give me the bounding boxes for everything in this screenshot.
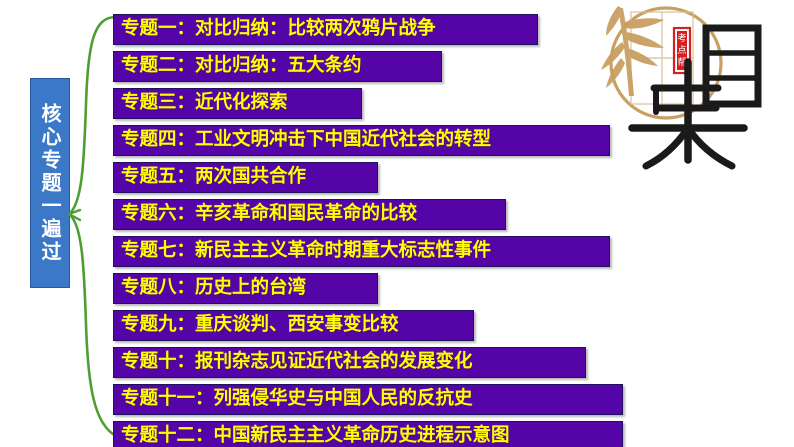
topic-bar-label: 专题六：辛亥革命和国民革命的比较 xyxy=(114,205,417,224)
contents-logo: 考 点 帮 xyxy=(596,0,794,190)
topic-bar[interactable]: 专题三：近代化探索 xyxy=(113,88,362,119)
topic-bar[interactable]: 专题九：重庆谈判、西安事变比较 xyxy=(113,310,474,341)
svg-text:考: 考 xyxy=(677,33,686,44)
core-topic-label-box[interactable]: 核心专题一遍过 xyxy=(30,78,70,288)
topic-bar[interactable]: 专题十：报刊杂志见证近代社会的发展变化 xyxy=(113,347,586,378)
slide-canvas: 核心专题一遍过 专题一：对比归纳：比较两次鸦片战争 专题二：对比归纳：五大条约 … xyxy=(0,0,794,447)
topic-bar[interactable]: 专题四：工业文明冲击下中国近代社会的转型 xyxy=(113,125,610,156)
topic-bar-label: 专题七：新民主主义革命时期重大标志性事件 xyxy=(114,242,491,261)
topic-bar-label: 专题二：对比归纳：五大条约 xyxy=(114,57,362,76)
topic-bar[interactable]: 专题八：历史上的台湾 xyxy=(113,273,378,304)
topic-bar[interactable]: 专题七：新民主主义革命时期重大标志性事件 xyxy=(113,236,610,267)
topic-bar[interactable]: 专题一：对比归纳：比较两次鸦片战争 xyxy=(113,14,538,45)
topic-bar-label: 专题九：重庆谈判、西安事变比较 xyxy=(114,316,399,335)
topic-bar[interactable]: 专题十二：中国新民主主义革命历史进程示意图 xyxy=(113,421,623,447)
topic-bar-label: 专题十：报刊杂志见证近代社会的发展变化 xyxy=(114,353,473,372)
topic-bar-label: 专题三：近代化探索 xyxy=(114,94,288,113)
topic-bar-label: 专题一：对比归纳：比较两次鸦片战争 xyxy=(114,20,436,39)
topic-bar[interactable]: 专题十一：列强侵华史与中国人民的反抗史 xyxy=(113,384,623,415)
svg-text:点: 点 xyxy=(677,45,686,56)
topic-bar-label: 专题八：历史上的台湾 xyxy=(114,279,306,298)
topic-bar-label: 专题十二：中国新民主主义革命历史进程示意图 xyxy=(114,427,510,446)
topic-bar[interactable]: 专题二：对比归纳：五大条约 xyxy=(113,51,442,82)
core-topic-label-text: 核心专题一遍过 xyxy=(40,103,60,264)
topic-bar[interactable]: 专题六：辛亥革命和国民革命的比较 xyxy=(113,199,506,230)
topic-bar-label: 专题五：两次国共合作 xyxy=(114,168,306,187)
topic-bar-label: 专题十一：列强侵华史与中国人民的反抗史 xyxy=(114,390,473,409)
topic-bar[interactable]: 专题五：两次国共合作 xyxy=(113,162,378,193)
topic-bar-label: 专题四：工业文明冲击下中国近代社会的转型 xyxy=(114,131,491,150)
